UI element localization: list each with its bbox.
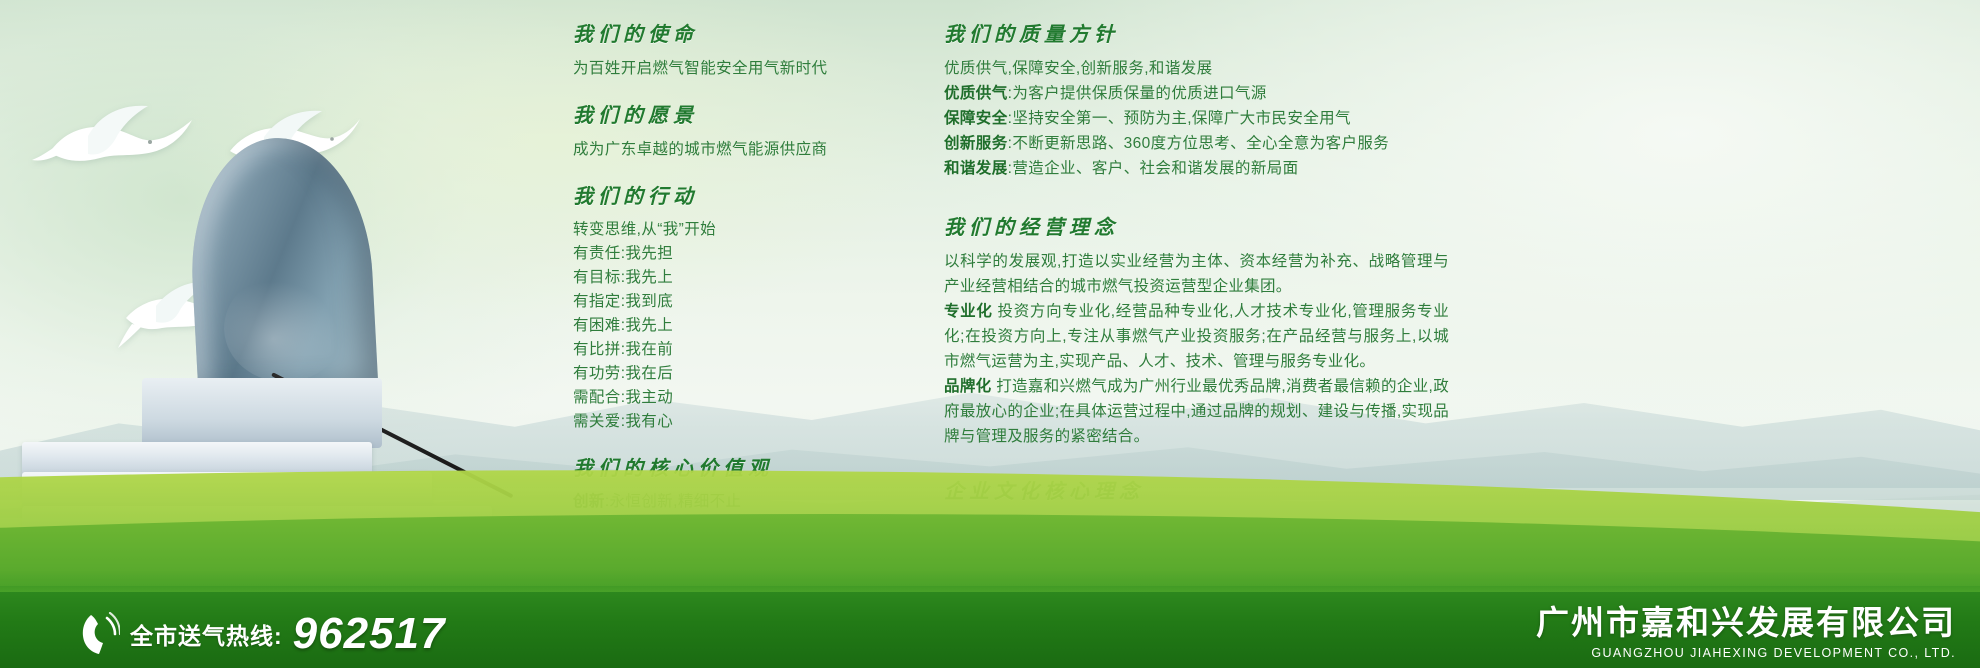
- quality-policy-summary: 优质供气,保障安全,创新服务,和谐发展: [944, 56, 1449, 81]
- quality-policy-item: 优质供气:为客户提供保质保量的优质进口气源: [944, 81, 1449, 106]
- management-philosophy-heading: 我们的经营理念: [944, 211, 1449, 240]
- management-philosophy-key: 专业化: [944, 303, 993, 320]
- vision-block: 我们的愿景 成为广东卓越的城市燃气能源供应商: [573, 99, 903, 162]
- hotline-number: 962517: [293, 612, 446, 656]
- action-item: 有目标:我先上: [573, 266, 903, 290]
- action-item: 有比拼:我在前: [573, 338, 903, 362]
- action-heading: 我们的行动: [573, 180, 903, 209]
- phone-icon: [80, 612, 120, 656]
- corporate-culture-poster: 我们的使命 为百姓开启燃气智能安全用气新时代 我们的愿景 成为广东卓越的城市燃气…: [0, 0, 1980, 668]
- management-philosophy-key: 品牌化: [944, 378, 992, 395]
- company-name-cn: 广州市嘉和兴发展有限公司: [1536, 603, 1956, 643]
- quality-policy-text: :为客户提供保质保量的优质进口气源: [1008, 85, 1267, 102]
- action-item: 需配合:我主动: [573, 386, 903, 410]
- hotline-label: 全市送气热线:: [130, 617, 283, 651]
- action-item: 需关爱:我有心: [573, 410, 903, 434]
- action-item: 有困难:我先上: [573, 314, 903, 338]
- sundial-stone-disc: [185, 133, 378, 402]
- management-philosophy-text: 打造嘉和兴燃气成为广州行业最优秀品牌,消费者最信赖的企业,政府最放心的企业;在具…: [944, 378, 1449, 445]
- quality-policy-key: 创新服务: [944, 135, 1008, 152]
- management-philosophy-block: 我们的经营理念 以科学的发展观,打造以实业经营为主体、资本经营为补充、战略管理与…: [944, 211, 1449, 449]
- management-philosophy-item: 品牌化 打造嘉和兴燃气成为广州行业最优秀品牌,消费者最信赖的企业,政府最放心的企…: [944, 374, 1449, 449]
- quality-policy-block: 我们的质量方针 优质供气,保障安全,创新服务,和谐发展 优质供气:为客户提供保质…: [944, 18, 1449, 181]
- action-item: 有责任:我先担: [573, 242, 903, 266]
- action-item: 有功劳:我在后: [573, 362, 903, 386]
- vision-heading: 我们的愿景: [573, 99, 903, 128]
- management-philosophy-item: 专业化 投资方向专业化,经营品种专业化,人才技术专业化,管理服务专业化;在投资方…: [944, 299, 1449, 374]
- action-item: 有指定:我到底: [573, 290, 903, 314]
- vision-line: 成为广东卓越的城市燃气能源供应商: [573, 137, 903, 162]
- base-slab-top: [22, 442, 372, 476]
- mission-block: 我们的使命 为百姓开启燃气智能安全用气新时代: [573, 18, 903, 81]
- company-name-en: GUANGZHOU JIAHEXING DEVELOPMENT CO., LTD…: [1536, 646, 1956, 660]
- quality-policy-heading: 我们的质量方针: [944, 18, 1449, 47]
- quality-policy-item: 保障安全:坚持安全第一、预防为主,保障广大市民安全用气: [944, 106, 1449, 131]
- quality-policy-key: 保障安全: [944, 110, 1008, 127]
- action-block: 我们的行动 转变思维,从“我”开始 有责任:我先担 有目标:我先上 有指定:我到…: [573, 180, 903, 434]
- action-intro: 转变思维,从“我”开始: [573, 218, 903, 242]
- quality-policy-item: 创新服务:不断更新思路、360度方位思考、全心全意为客户服务: [944, 131, 1449, 156]
- company-identity: 广州市嘉和兴发展有限公司 GUANGZHOU JIAHEXING DEVELOP…: [1536, 603, 1956, 660]
- quality-policy-text: :不断更新思路、360度方位思考、全心全意为客户服务: [1008, 135, 1390, 152]
- quality-policy-key: 优质供气: [944, 85, 1008, 102]
- mission-line: 为百姓开启燃气智能安全用气新时代: [573, 56, 903, 81]
- hotline-group: 全市送气热线: 962517: [80, 612, 446, 656]
- quality-policy-text: :营造企业、客户、社会和谐发展的新局面: [1008, 160, 1299, 177]
- quality-policy-key: 和谐发展: [944, 160, 1008, 177]
- quality-policy-text: :坚持安全第一、预防为主,保障广大市民安全用气: [1008, 110, 1351, 127]
- management-philosophy-intro: 以科学的发展观,打造以实业经营为主体、资本经营为补充、战略管理与产业经营相结合的…: [944, 249, 1449, 299]
- management-philosophy-text: 投资方向专业化,经营品种专业化,人才技术专业化,管理服务专业化;在投资方向上,专…: [944, 303, 1449, 370]
- quality-policy-item: 和谐发展:营造企业、客户、社会和谐发展的新局面: [944, 156, 1449, 181]
- mission-heading: 我们的使命: [573, 18, 903, 47]
